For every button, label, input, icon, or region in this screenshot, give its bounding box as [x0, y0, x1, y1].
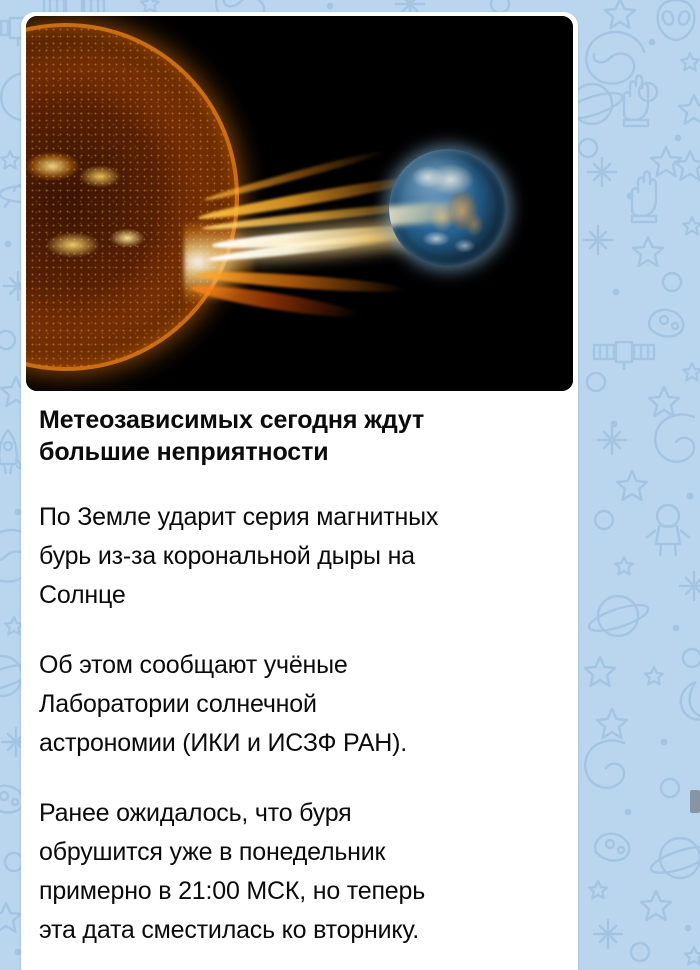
message-text-body: Метеозависимых сегодня ждут большие непр…: [39, 404, 563, 950]
photo-attachment[interactable]: [26, 16, 573, 391]
chat-scrollbar-thumb[interactable]: [690, 790, 700, 813]
earth-atmosphere-glow: [389, 149, 507, 267]
message-bubble[interactable]: Метеозависимых сегодня ждут большие непр…: [21, 12, 578, 970]
earth-illustration: [389, 149, 507, 267]
message-paragraph-2: Об этом сообщают учёные Лаборатории солн…: [39, 646, 563, 763]
message-paragraph-3: Ранее ожидалось, что буря обрушится уже …: [39, 794, 563, 950]
photo-canvas: [26, 16, 573, 391]
message-paragraph-1: По Земле ударит серия магнитных бурь из-…: [39, 498, 563, 615]
sun-illustration: [26, 26, 236, 368]
message-heading: Метеозависимых сегодня ждут большие непр…: [39, 404, 563, 468]
